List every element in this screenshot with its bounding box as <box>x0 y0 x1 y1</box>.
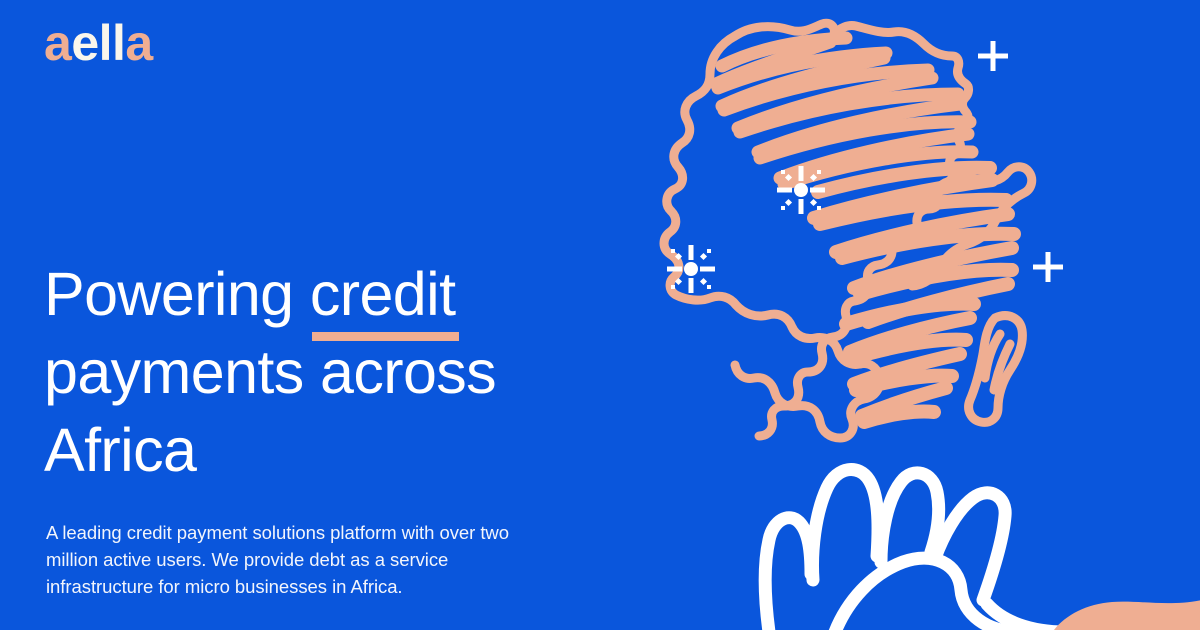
headline-line-2: payments across <box>44 333 604 411</box>
description-text: A leading credit payment solutions platf… <box>46 519 546 600</box>
plus-icon <box>1033 252 1063 282</box>
logo-letter-a-last: a <box>125 15 152 71</box>
page-title: Powering credit payments across Africa <box>44 255 604 489</box>
headline-line-3: Africa <box>44 411 604 489</box>
headline-prefix: Powering <box>44 260 310 328</box>
corner-blob-decoration <box>1050 592 1200 630</box>
sparkle-icon <box>777 166 825 214</box>
logo-letters-ell: ell <box>71 15 125 71</box>
sparkle-icon <box>667 245 715 293</box>
description-line-1: A leading credit payment solutions platf… <box>46 519 546 546</box>
plus-icon <box>978 41 1008 71</box>
aella-logo[interactable]: aella <box>44 18 153 68</box>
og-card: aella Powering credit payments across Af… <box>0 0 1200 630</box>
logo-letter-a-first: a <box>44 15 71 71</box>
description-line-3: infrastructure for micro businesses in A… <box>46 573 546 600</box>
headline-line-1: Powering credit <box>44 255 604 333</box>
headline-emphasis-credit: credit <box>310 255 456 333</box>
africa-map-illustration <box>640 18 1060 443</box>
description-line-2: million active users. We provide debt as… <box>46 546 546 573</box>
hand-illustration <box>735 452 1165 630</box>
